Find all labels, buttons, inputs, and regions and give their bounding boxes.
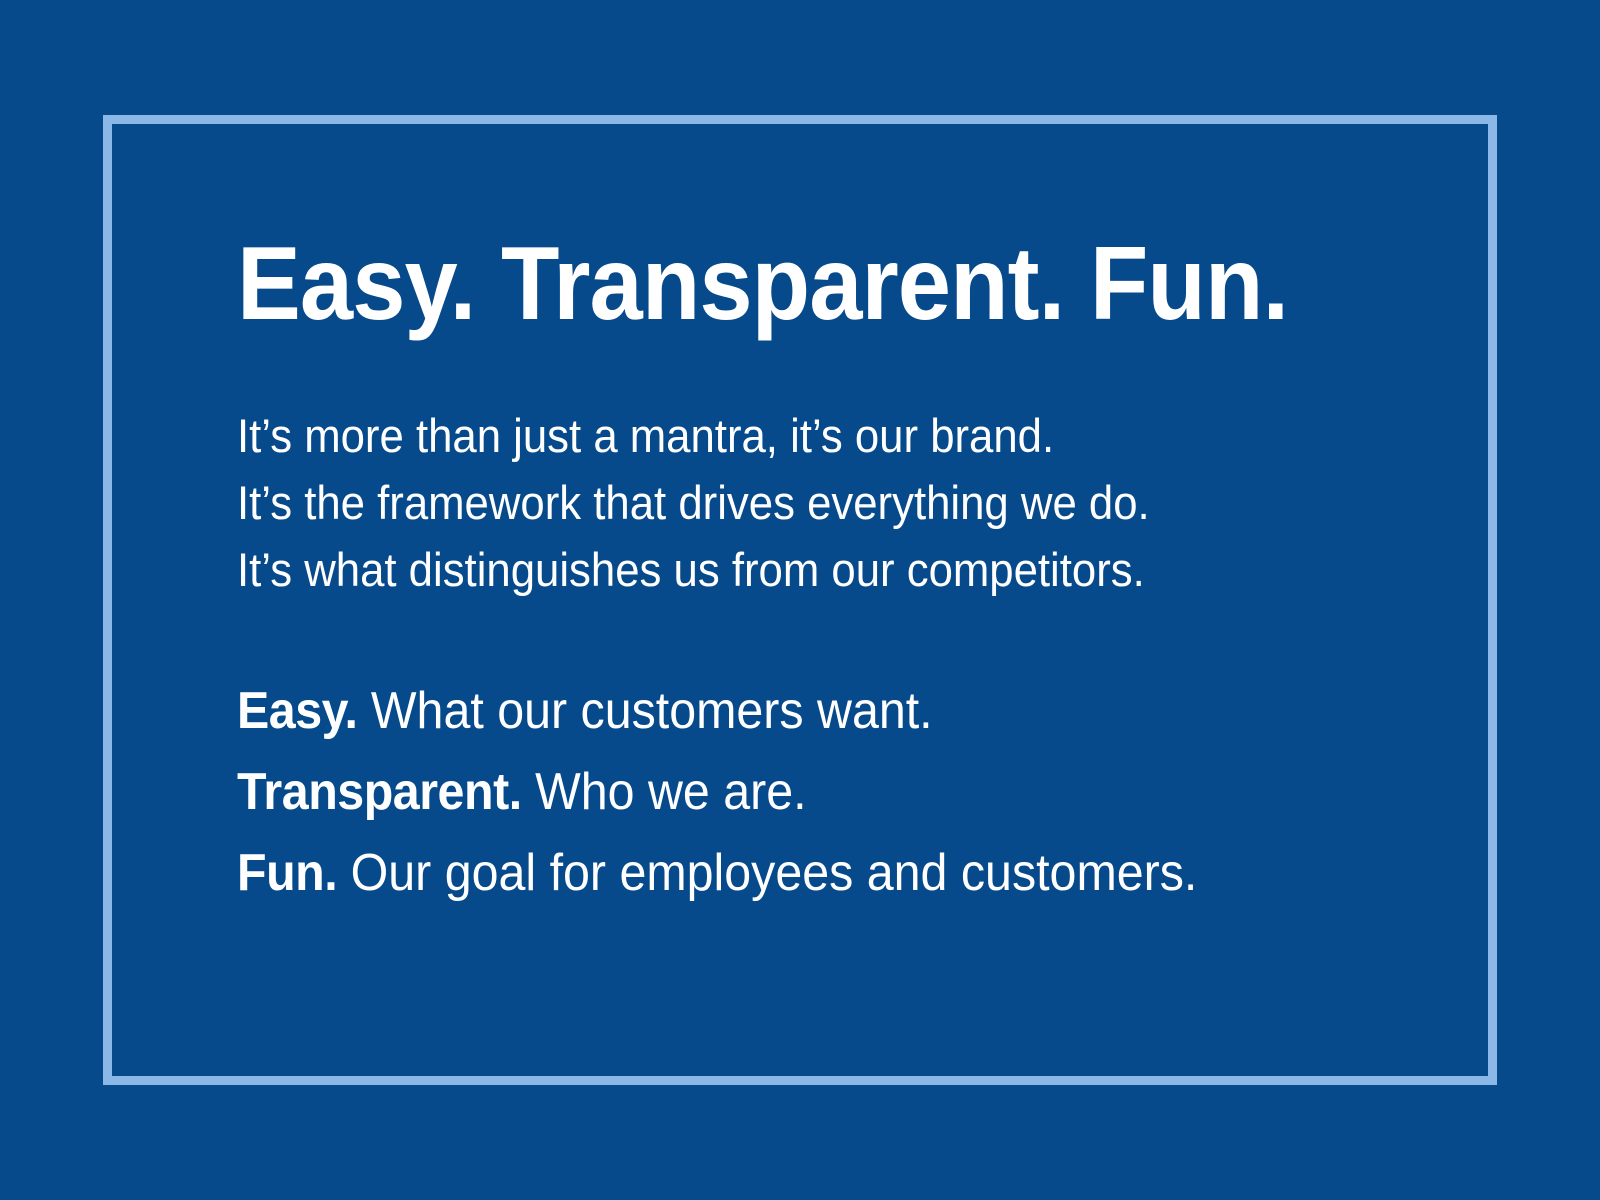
value-list-item-fun: Fun. Our goal for employees and customer… bbox=[237, 833, 1279, 914]
slide-content: Easy. Transparent. Fun. It’s more than j… bbox=[237, 232, 1357, 914]
intro-paragraph-line-1: It’s more than just a mantra, it’s our b… bbox=[237, 402, 1279, 469]
value-term-transparent: Transparent. bbox=[237, 763, 522, 821]
value-term-fun: Fun. bbox=[237, 844, 337, 902]
value-list-item-easy: Easy. What our customers want. bbox=[237, 671, 1279, 752]
value-description-easy: What our customers want. bbox=[371, 682, 933, 740]
value-description-transparent: Who we are. bbox=[535, 763, 806, 821]
slide-canvas: Easy. Transparent. Fun. It’s more than j… bbox=[0, 0, 1600, 1200]
intro-paragraph-line-2: It’s the framework that drives everythin… bbox=[237, 469, 1279, 536]
value-list: Easy. What our customers want. Transpare… bbox=[237, 671, 1279, 914]
intro-paragraph-line-3: It’s what distinguishes us from our comp… bbox=[237, 536, 1279, 603]
page-title: Easy. Transparent. Fun. bbox=[237, 232, 1267, 336]
value-term-easy: Easy. bbox=[237, 682, 357, 740]
value-description-fun: Our goal for employees and customers. bbox=[351, 844, 1198, 902]
intro-paragraph: It’s more than just a mantra, it’s our b… bbox=[237, 402, 1279, 603]
value-list-item-transparent: Transparent. Who we are. bbox=[237, 752, 1279, 833]
